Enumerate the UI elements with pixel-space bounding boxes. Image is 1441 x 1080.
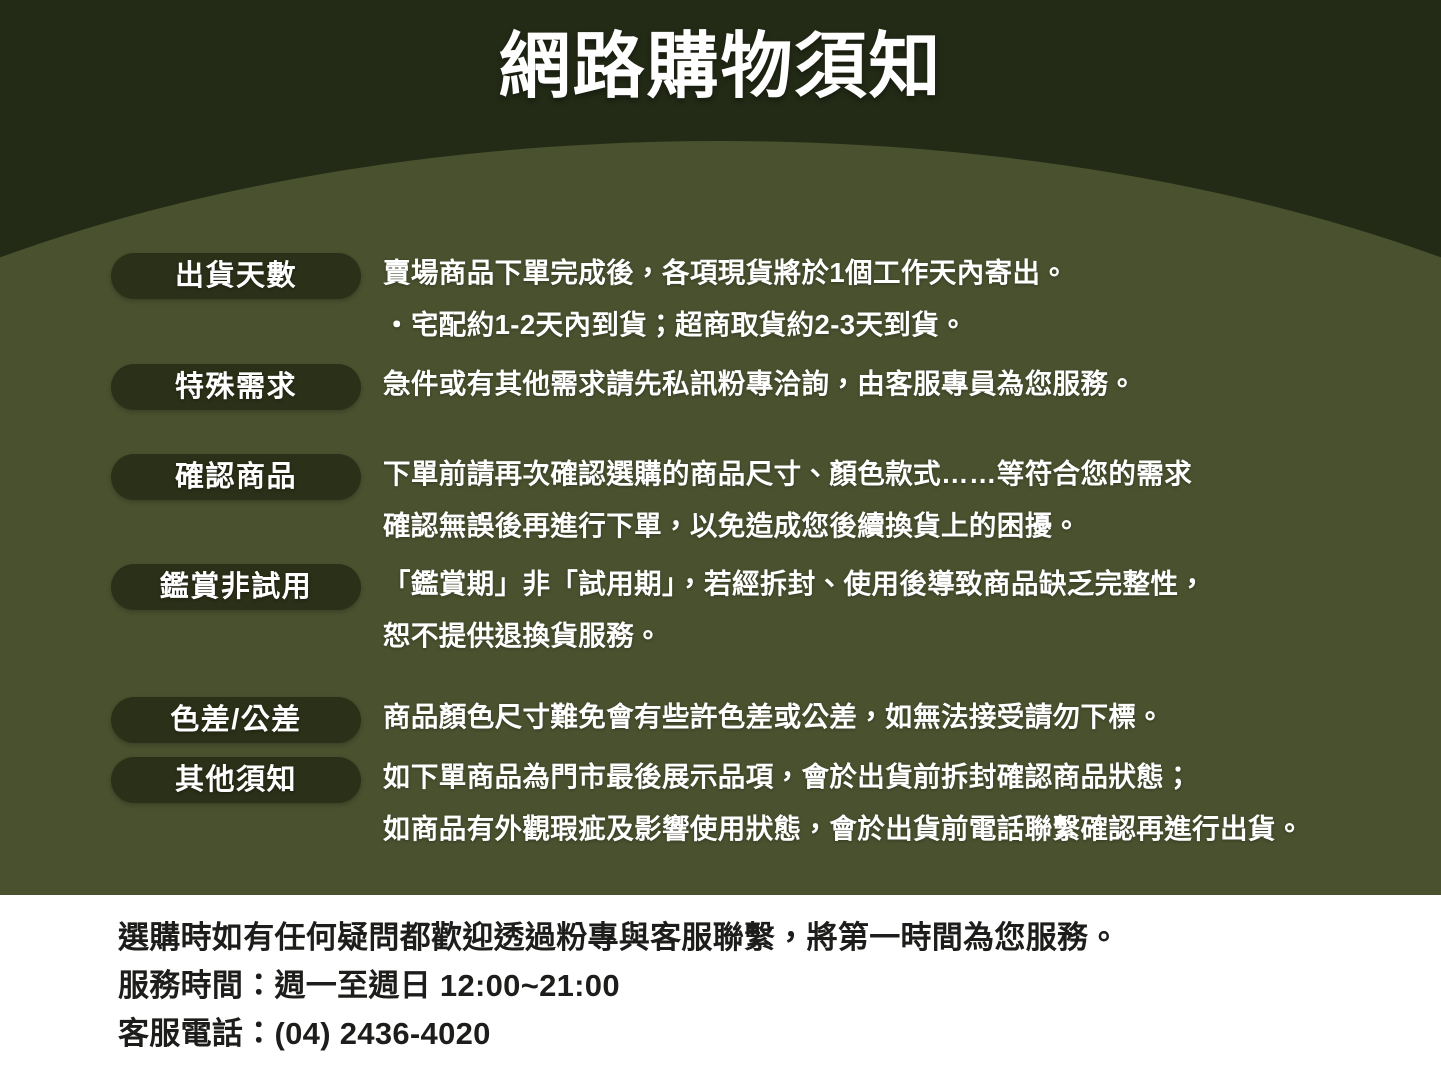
notice-label-pill: 確認商品 <box>111 454 361 500</box>
notice-body-line: 恕不提供退換貨服務。 <box>383 610 1403 662</box>
notice-label-text: 特殊需求 <box>175 373 297 402</box>
notice-body: 「鑑賞期」非「試用期」，若經拆封、使用後導致商品缺乏完整性， 恕不提供退換貨服務… <box>383 558 1403 662</box>
notice-label-pill: 鑑賞非試用 <box>111 564 361 610</box>
notice-label-text: 確認商品 <box>175 463 297 492</box>
notice-label-pill: 其他須知 <box>111 757 361 803</box>
notice-body-line: 下單前請再次確認選購的商品尺寸、顏色款式……等符合您的需求 <box>383 448 1403 500</box>
notice-label-pill: 特殊需求 <box>111 364 361 410</box>
notice-body-line: 確認無誤後再進行下單，以免造成您後續換貨上的困擾。 <box>383 500 1403 552</box>
notice-body-line: 如商品有外觀瑕疵及影響使用狀態，會於出貨前電話聯繫確認再進行出貨。 <box>383 803 1403 855</box>
notice-body: 如下單商品為門市最後展示品項，會於出貨前拆封確認商品狀態； 如商品有外觀瑕疵及影… <box>383 751 1403 855</box>
notice-label-text: 其他須知 <box>175 766 297 795</box>
notice-body-line: 商品顏色尺寸難免會有些許色差或公差，如無法接受請勿下標。 <box>383 691 1403 743</box>
footer-line-support-message: 選購時如有任何疑問都歡迎透過粉專與客服聯繫，將第一時間為您服務。 <box>118 914 1120 962</box>
footer-line-service-hours: 服務時間：週一至週日 12:00~21:00 <box>118 962 1120 1010</box>
notice-label-text: 出貨天數 <box>175 262 297 291</box>
notice-body: 商品顏色尺寸難免會有些許色差或公差，如無法接受請勿下標。 <box>383 691 1403 743</box>
notice-label-pill: 出貨天數 <box>111 253 361 299</box>
page-title: 網路購物須知 <box>0 26 1441 109</box>
footer-text-block: 選購時如有任何疑問都歡迎透過粉專與客服聯繫，將第一時間為您服務。 服務時間：週一… <box>118 914 1120 1058</box>
notice-page: 網路購物須知 出貨天數 賣場商品下單完成後，各項現貨將於1個工作天內寄出。 ・宅… <box>0 0 1441 1080</box>
notice-label-text: 色差/公差 <box>170 706 302 735</box>
notice-body-line: 「鑑賞期」非「試用期」，若經拆封、使用後導致商品缺乏完整性， <box>383 558 1403 610</box>
notice-panel: 網路購物須知 出貨天數 賣場商品下單完成後，各項現貨將於1個工作天內寄出。 ・宅… <box>0 0 1441 895</box>
contact-footer: 選購時如有任何疑問都歡迎透過粉專與客服聯繫，將第一時間為您服務。 服務時間：週一… <box>0 895 1441 1080</box>
notice-label-pill: 色差/公差 <box>111 697 361 743</box>
notice-body: 下單前請再次確認選購的商品尺寸、顏色款式……等符合您的需求 確認無誤後再進行下單… <box>383 448 1403 552</box>
notice-body-line: 賣場商品下單完成後，各項現貨將於1個工作天內寄出。 <box>383 247 1403 299</box>
footer-line-service-phone: 客服電話：(04) 2436-4020 <box>118 1010 1120 1058</box>
notice-body-line: 如下單商品為門市最後展示品項，會於出貨前拆封確認商品狀態； <box>383 751 1403 803</box>
notice-body: 急件或有其他需求請先私訊粉專洽詢，由客服專員為您服務。 <box>383 358 1403 410</box>
notice-label-text: 鑑賞非試用 <box>160 573 313 602</box>
notice-body-line: 急件或有其他需求請先私訊粉專洽詢，由客服專員為您服務。 <box>383 358 1403 410</box>
notice-body: 賣場商品下單完成後，各項現貨將於1個工作天內寄出。 ・宅配約1-2天內到貨；超商… <box>383 247 1403 351</box>
notice-body-line: ・宅配約1-2天內到貨；超商取貨約2-3天到貨。 <box>383 299 1403 351</box>
